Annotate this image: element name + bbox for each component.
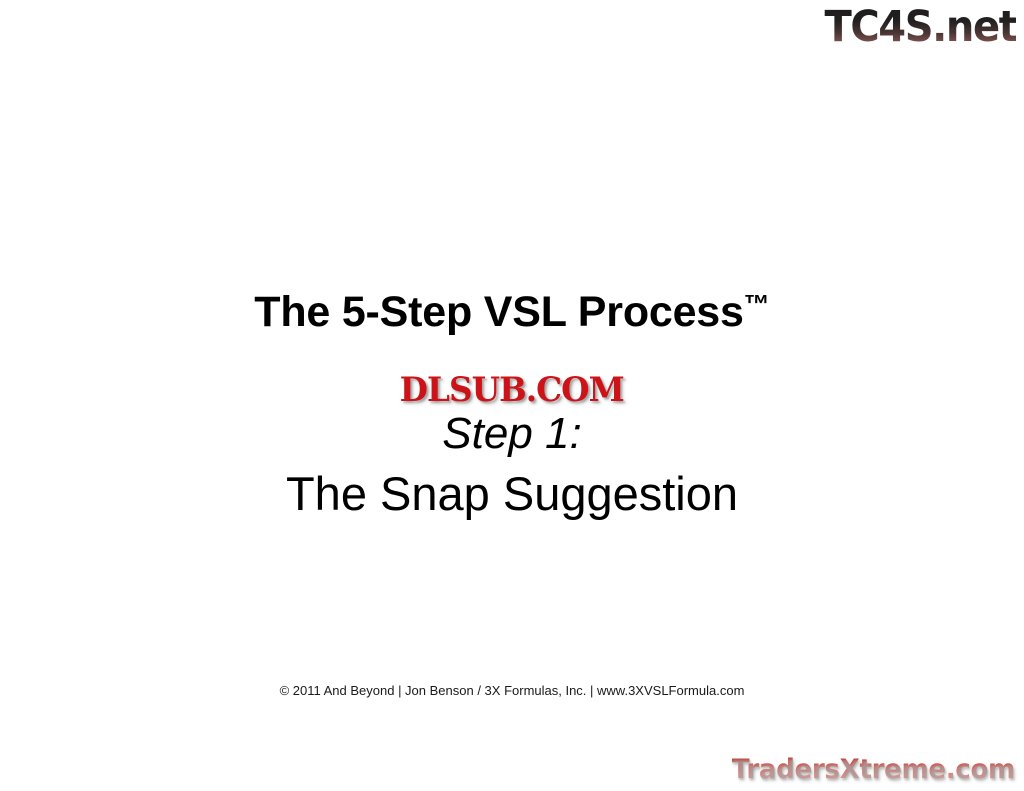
- dlsub-watermark-text: DLSUB.COM: [400, 372, 624, 408]
- page-title-text: The 5-Step VSL Process: [254, 288, 744, 336]
- subtitle-block: Step 1: The Snap Suggestion: [0, 408, 1024, 522]
- tradersxtreme-watermark-text: TradersXtreme.com: [732, 754, 1015, 785]
- trademark-symbol: ™: [744, 289, 770, 319]
- tc4s-brand-logo: TC4S.net: [824, 2, 1016, 52]
- copyright-footer: © 2011 And Beyond | Jon Benson / 3X Form…: [0, 682, 1024, 699]
- subtitle-step-label: Step 1:: [0, 408, 1024, 460]
- dlsub-watermark: DLSUB.COM: [0, 372, 1024, 408]
- page-title: The 5-Step VSL Process™: [0, 278, 1024, 338]
- tradersxtreme-watermark: TradersXtreme.com: [732, 753, 1015, 787]
- presentation-slide: TC4S.net The 5-Step VSL Process™ DLSUB.C…: [0, 0, 1024, 791]
- subtitle-heading: The Snap Suggestion: [0, 466, 1024, 522]
